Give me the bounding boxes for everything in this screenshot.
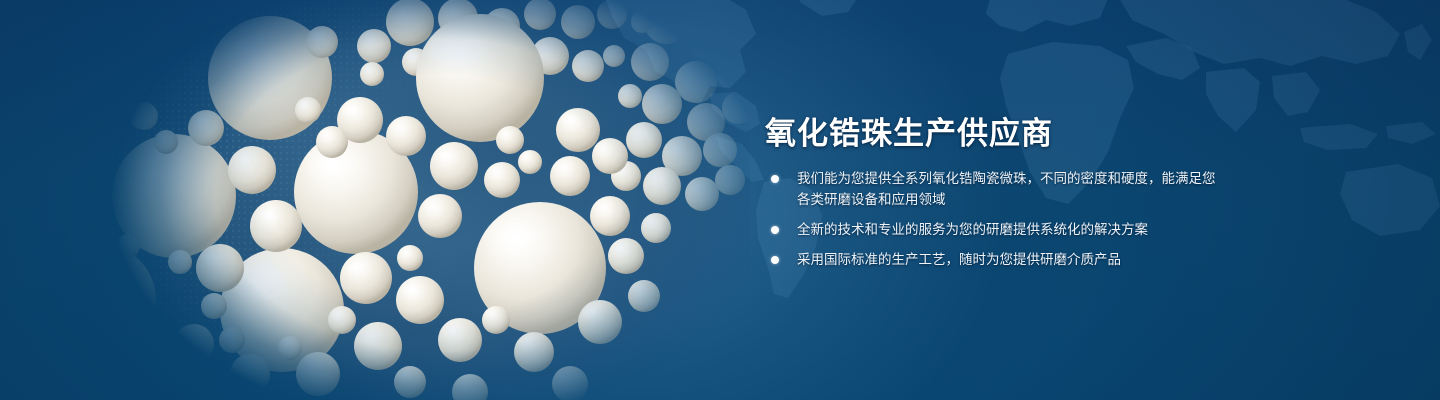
banner-content: 氧化锆珠生产供应商 我们能为您提供全系列氧化锆陶瓷微珠，不同的密度和硬度，能满足… [765,0,1235,400]
list-item: 我们能为您提供全系列氧化锆陶瓷微珠，不同的密度和硬度，能满足您各类研磨设备和应用… [767,168,1217,210]
list-item-text: 采用国际标准的生产工艺，随时为您提供研磨介质产品 [797,252,1121,267]
bullet-dot-icon [771,175,779,183]
bullet-dot-icon [771,256,779,264]
list-item-text: 我们能为您提供全系列氧化锆陶瓷微珠，不同的密度和硬度，能满足您各类研磨设备和应用… [797,171,1216,207]
feature-list: 我们能为您提供全系列氧化锆陶瓷微珠，不同的密度和硬度，能满足您各类研磨设备和应用… [767,168,1217,270]
list-item: 全新的技术和专业的服务为您的研磨提供系统化的解决方案 [767,219,1217,240]
bullet-dot-icon [771,226,779,234]
list-item-text: 全新的技术和专业的服务为您的研磨提供系统化的解决方案 [797,222,1148,237]
hero-banner: 氧化锆珠生产供应商 我们能为您提供全系列氧化锆陶瓷微珠，不同的密度和硬度，能满足… [0,0,1440,400]
page-title: 氧化锆珠生产供应商 [765,108,1053,153]
list-item: 采用国际标准的生产工艺，随时为您提供研磨介质产品 [767,249,1217,270]
